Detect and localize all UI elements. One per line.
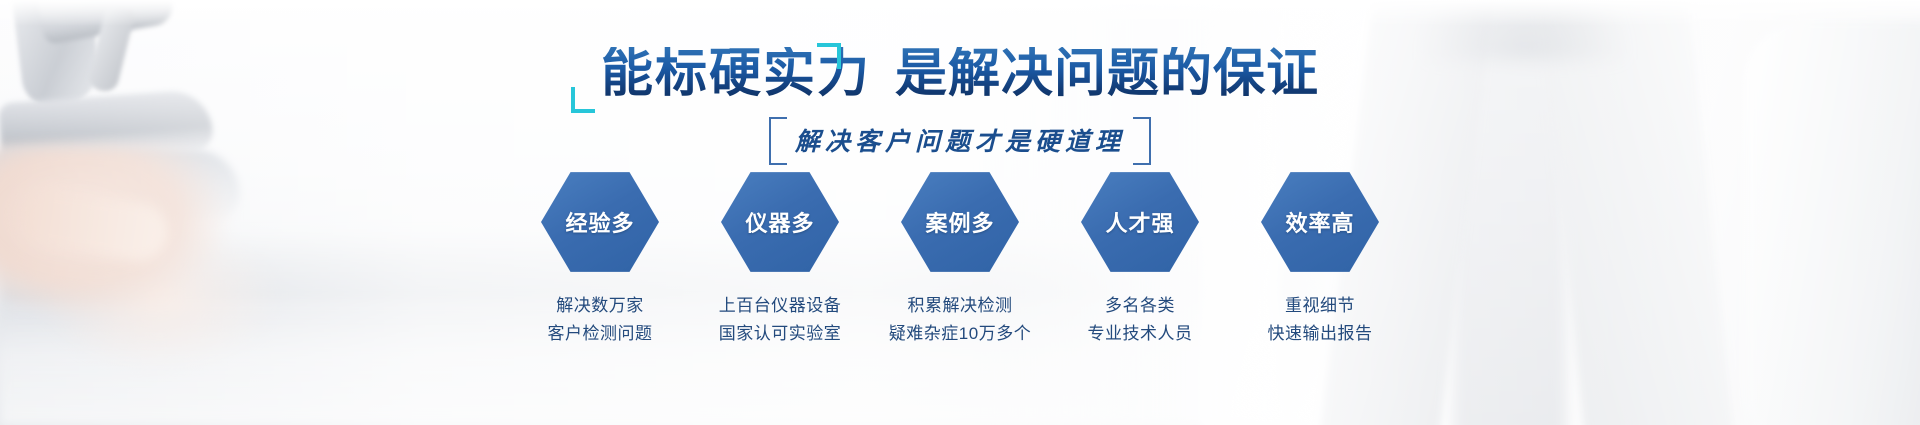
caption-line-1: 解决数万家 — [556, 296, 644, 315]
badge-label: 效率高 — [1285, 206, 1354, 238]
badge-label: 人才强 — [1105, 206, 1174, 238]
headline: 能标硬实力 是解决问题的保证 — [579, 47, 1341, 103]
feature-badge-row: 经验多 解决数万家 客户检测问题 仪器多 上百台仪器设备 国家认可实验 — [0, 170, 1920, 348]
hexagon-fill: 效率高 — [1261, 170, 1379, 274]
feature-caption: 积累解决检测 疑难杂症10万多个 — [889, 292, 1031, 348]
badge-label: 经验多 — [565, 206, 634, 238]
hexagon-badge[interactable]: 效率高 — [1261, 170, 1379, 274]
feature-item[interactable]: 仪器多 上百台仪器设备 国家认可实验室 — [708, 170, 852, 348]
badge-label: 仪器多 — [745, 206, 814, 238]
feature-item[interactable]: 效率高 重视细节 快速输出报告 — [1248, 170, 1392, 348]
hexagon-fill: 仪器多 — [721, 170, 839, 274]
subtitle-frame: 解决客户问题才是硬道理 — [769, 117, 1151, 165]
caption-line-1: 积累解决检测 — [907, 296, 1012, 315]
hexagon-badge[interactable]: 经验多 — [541, 170, 659, 274]
hexagon-badge[interactable]: 案例多 — [901, 170, 1019, 274]
headline-part-2: 是解决问题的保证 — [895, 47, 1319, 103]
feature-caption: 上百台仪器设备 国家认可实验室 — [719, 292, 842, 348]
caption-line-2: 疑难杂症10万多个 — [889, 320, 1031, 348]
hexagon-fill: 经验多 — [541, 170, 659, 274]
promo-banner: 能标硬实力 是解决问题的保证 解决客户问题才是硬道理 经验多 解决数万家 — [0, 0, 1920, 425]
feature-item[interactable]: 案例多 积累解决检测 疑难杂症10万多个 — [888, 170, 1032, 348]
bracket-top-right-icon — [817, 43, 841, 69]
hexagon-fill: 案例多 — [901, 170, 1019, 274]
headline-row: 能标硬实力 是解决问题的保证 — [0, 47, 1920, 103]
caption-line-1: 多名各类 — [1105, 296, 1175, 315]
bracket-bottom-left-icon — [571, 87, 595, 113]
caption-line-1: 上百台仪器设备 — [719, 296, 842, 315]
feature-caption: 重视细节 快速输出报告 — [1268, 292, 1373, 348]
feature-caption: 多名各类 专业技术人员 — [1088, 292, 1193, 348]
badge-label: 案例多 — [925, 206, 994, 238]
subtitle-row: 解决客户问题才是硬道理 — [0, 117, 1920, 165]
feature-item[interactable]: 人才强 多名各类 专业技术人员 — [1068, 170, 1212, 348]
caption-line-2: 专业技术人员 — [1088, 320, 1193, 348]
caption-line-2: 国家认可实验室 — [719, 320, 842, 348]
caption-line-1: 重视细节 — [1285, 296, 1355, 315]
subtitle-text: 解决客户问题才是硬道理 — [795, 129, 1125, 156]
banner-content: 能标硬实力 是解决问题的保证 解决客户问题才是硬道理 经验多 解决数万家 — [0, 0, 1920, 425]
hexagon-badge[interactable]: 仪器多 — [721, 170, 839, 274]
hexagon-badge[interactable]: 人才强 — [1081, 170, 1199, 274]
caption-line-2: 快速输出报告 — [1268, 320, 1373, 348]
feature-item[interactable]: 经验多 解决数万家 客户检测问题 — [528, 170, 672, 348]
caption-line-2: 客户检测问题 — [548, 320, 653, 348]
hexagon-fill: 人才强 — [1081, 170, 1199, 274]
feature-caption: 解决数万家 客户检测问题 — [548, 292, 653, 348]
